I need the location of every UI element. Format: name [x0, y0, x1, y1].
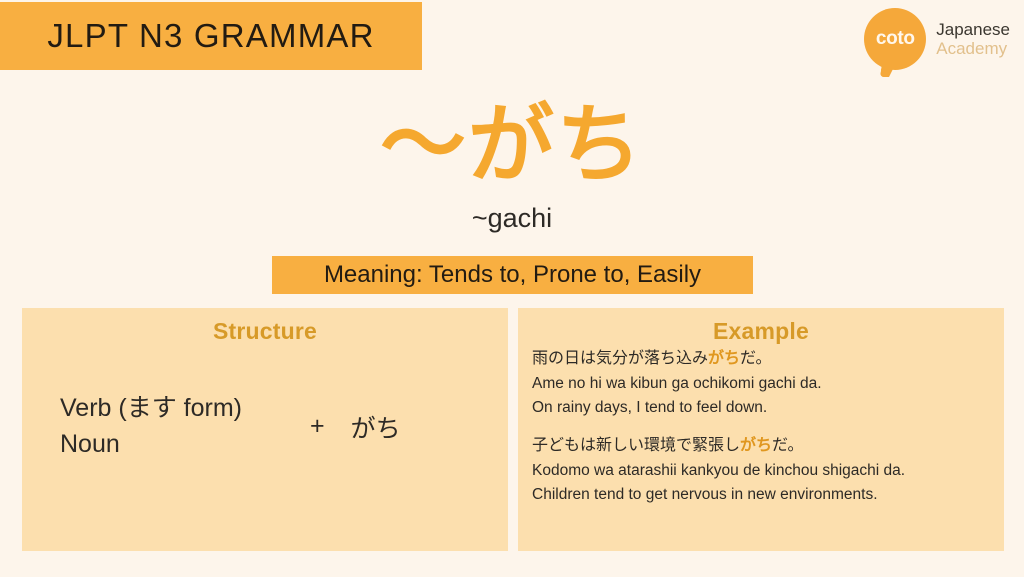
- example-heading: Example: [518, 308, 1004, 345]
- example-english: Children tend to get nervous in new envi…: [532, 483, 992, 507]
- title-banner: JLPT N3 GRAMMAR: [0, 2, 422, 70]
- example-jp-highlight: がち: [740, 437, 772, 454]
- grammar-headword: 〜がち: [0, 100, 1024, 190]
- page-title: JLPT N3 GRAMMAR: [47, 17, 374, 55]
- logo-line-japanese: Japanese: [936, 20, 1010, 39]
- example-english: On rainy days, I tend to feel down.: [532, 396, 992, 420]
- example-panel: Example 雨の日は気分が落ち込みがちだ。 Ame no hi wa kib…: [518, 308, 1004, 551]
- example-japanese: 子どもは新しい環境で緊張しがちだ。: [532, 434, 992, 459]
- structure-heading: Structure: [22, 308, 508, 345]
- meaning-banner: Meaning: Tends to, Prone to, Easily: [272, 256, 753, 294]
- structure-forms: Verb (ます form) Noun: [60, 391, 242, 462]
- structure-body: Verb (ます form) Noun + がち: [22, 391, 508, 462]
- speech-bubble-icon: coto: [864, 8, 926, 70]
- example-jp-after: だ。: [740, 350, 772, 367]
- example-spacer: [532, 420, 992, 434]
- example-japanese: 雨の日は気分が落ち込みがちだ。: [532, 347, 992, 372]
- logo-wordmark: Japanese Academy: [936, 20, 1010, 58]
- example-body: 雨の日は気分が落ち込みがちだ。 Ame no hi wa kibun ga oc…: [518, 345, 1004, 507]
- structure-panel: Structure Verb (ます form) Noun + がち: [22, 308, 508, 551]
- structure-plus-sign: +: [310, 412, 325, 441]
- logo-line-academy: Academy: [936, 39, 1010, 58]
- structure-form-verb: Verb (ます form): [60, 391, 242, 427]
- meaning-text: Meaning: Tends to, Prone to, Easily: [324, 261, 701, 289]
- example-jp-before: 子どもは新しい環境で緊張し: [532, 437, 740, 454]
- example-item: 雨の日は気分が落ち込みがちだ。 Ame no hi wa kibun ga oc…: [532, 347, 992, 420]
- example-jp-before: 雨の日は気分が落ち込み: [532, 350, 708, 367]
- example-romaji: Kodomo wa atarashii kankyou de kinchou s…: [532, 459, 992, 483]
- grammar-romaji: ~gachi: [0, 203, 1024, 234]
- coto-academy-logo: coto Japanese Academy: [864, 8, 1010, 70]
- logo-brand-text: coto: [876, 29, 915, 48]
- structure-form-noun: Noun: [60, 427, 242, 463]
- example-jp-after: だ。: [772, 437, 804, 454]
- structure-suffix: がち: [351, 409, 401, 445]
- example-jp-highlight: がち: [708, 350, 740, 367]
- example-item: 子どもは新しい環境で緊張しがちだ。 Kodomo wa atarashii ka…: [532, 434, 992, 507]
- example-romaji: Ame no hi wa kibun ga ochikomi gachi da.: [532, 372, 992, 396]
